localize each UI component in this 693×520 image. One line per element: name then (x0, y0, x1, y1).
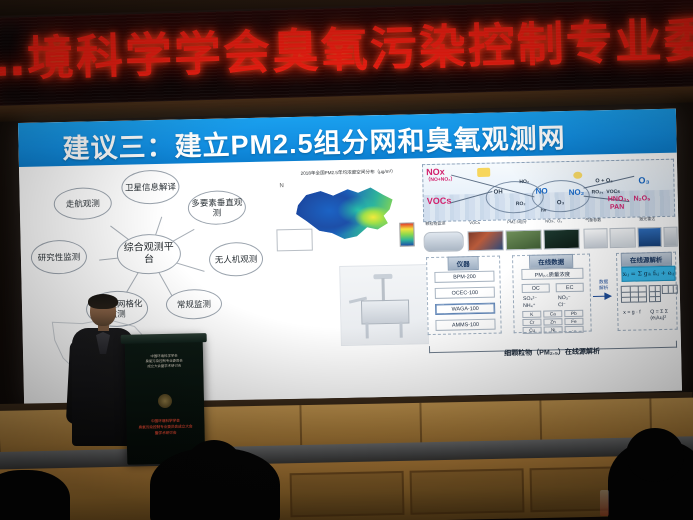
label-vocs: VOCs (427, 196, 452, 207)
metal-cell: Zn (543, 318, 562, 325)
ion-label-cl: Cl⁻ (558, 302, 566, 308)
thumbnail-caption: VOCs (469, 220, 480, 225)
label-ho2: HO₂ (519, 179, 529, 185)
map-color-scale (399, 222, 415, 246)
instrument-item: WAGA-100 (435, 303, 495, 315)
label-no2: NO₂ (569, 188, 585, 197)
source-apportionment-flow: 仪器 BPM-200 OCEC-100 WAGA-100 AMMS-100 在线… (424, 252, 678, 345)
thumbnail-image (505, 230, 541, 251)
sub-formula-2: Q = Σ Σ (eᵢⱼ/uᵢⱼ)² (650, 309, 676, 322)
mindmap-node-label: 多要素垂直观测 (191, 197, 243, 218)
thumbnail-caption: 气象参数 (585, 217, 601, 223)
mindmap-node-mobile: 走航观测 (53, 187, 112, 220)
speaker-hair (88, 294, 118, 309)
label-nox-sub: （NO+NO₂） (425, 175, 455, 183)
mindmap-node-vertical: 多要素垂直观测 (188, 190, 247, 225)
matrix-x (621, 285, 647, 303)
label-ro2-vocs: RO₂、VOCs (592, 188, 620, 196)
flow-column-header: 仪器 (448, 256, 479, 271)
label-no: NO (536, 186, 548, 195)
photo-scene: …境科学学会臭氧污染控制专业委员会成… 建议三：建立PM2.5组分网和臭氧观测网… (0, 0, 693, 520)
sun-icon (477, 168, 490, 177)
thumbnail-image (583, 228, 607, 249)
instrument-item: BPM-200 (434, 271, 494, 283)
inlet-stem (381, 278, 385, 302)
instrument-item: AMMS-100 (435, 319, 495, 331)
mindmap-node-routine: 常规监测 (166, 289, 223, 320)
mindmap-node-research: 研究性监测 (31, 240, 88, 275)
mindmap-node-label: 走航观测 (66, 198, 100, 209)
mindmap-diagram: 综合观测平台 卫星信息解译 多要素垂直观测 无人机观测 常规监测 高密度网格化监… (23, 165, 275, 340)
instrument-photo (339, 264, 429, 346)
mindmap-node-satellite: 卫星信息解译 (121, 169, 180, 204)
metal-cell: … (565, 326, 584, 333)
ion-label-so4: SO₄²⁻ (523, 296, 537, 302)
thumbnail-image (637, 227, 661, 248)
label-o3-center: O₃ (557, 200, 565, 206)
mindmap-node-uav: 无人机观测 (209, 242, 264, 277)
matrix-f (662, 285, 678, 294)
mindmap-node-label: 无人机观测 (215, 254, 258, 265)
sub-formula-1: x = g · f (623, 309, 641, 315)
audience-head (186, 440, 242, 490)
carbon-box-ec: EC (556, 283, 584, 293)
label-oh: OH (494, 189, 503, 195)
mindmap-node-label: 常规监测 (177, 299, 211, 310)
thumbnail-caption: 颗粒物监测 (425, 221, 445, 227)
mindmap-node-label: 卫星信息解译 (125, 182, 176, 193)
metal-cell: Ni (544, 326, 563, 333)
podium-text-bottom: 中国环境科学学会 臭氧污染控制专业委员会成立大会 暨学术研讨会 (131, 417, 199, 436)
wood-panel (290, 471, 405, 517)
wood-panel (410, 468, 525, 514)
metal-cell: K (522, 311, 541, 318)
flow-column-header: 在线数据 (529, 254, 573, 269)
flow-column-header: 在线源解析 (621, 252, 672, 267)
pm-mass-box: PM₂.₅质量浓度 (521, 268, 583, 280)
thumbnail-caption: NOx、O₃ (545, 218, 562, 224)
flow-column-source-apportionment: 在线源解析 xᵢⱼ = Σ gᵢₖ fₖⱼ + eᵢⱼ x = g · f Q (616, 252, 678, 331)
mindmap-node-label: 研究性监测 (38, 252, 81, 263)
thumbnail-caption: 激光雷达 (639, 216, 655, 222)
podium-emblem (158, 394, 172, 408)
metal-cell: Cu (523, 327, 542, 334)
map-legend (276, 229, 312, 252)
data-analysis-arrow-label: 数据 解析 (593, 279, 615, 291)
ion-label-nh4: NH₄⁺ (523, 303, 535, 309)
metal-cell: Ca (543, 310, 562, 317)
flow-column-instruments: 仪器 BPM-200 OCEC-100 WAGA-100 AMMS-100 (426, 256, 502, 336)
thumbnail-image (609, 228, 635, 249)
instrument-leg (399, 322, 402, 338)
ion-label-no3: NO₃⁻ (558, 295, 571, 301)
label-hv: hν (541, 207, 546, 212)
carbon-box-oc: OC (522, 283, 550, 293)
metal-cell: Pb (564, 310, 583, 317)
mindmap-center-label: 综合观测平台 (120, 242, 179, 267)
thumbnail-image (423, 231, 463, 252)
slide-title: 建议三：建立PM2.5组分网和臭氧观测网 (62, 116, 566, 166)
mindmap-center-node: 综合观测平台 (116, 233, 181, 274)
matrix-g (649, 285, 661, 302)
thumbnail-image (543, 229, 579, 250)
pmf-formula-box: xᵢⱼ = Σ gᵢₖ fₖⱼ + eᵢⱼ (621, 266, 675, 282)
metal-cell: Cr (522, 319, 541, 326)
thumbnail-caption: PM2.5组分 (507, 219, 527, 225)
metal-cell: Fe (564, 318, 583, 325)
photochemistry-diagram: NOx （NO+NO₂） VOCs OH HO₂ RO₂ NO NO₂ O₃ h… (422, 159, 675, 222)
label-o3-product: O₃ (638, 175, 649, 185)
podium-text-top: 中国环境科学学会 臭氧污染控制专业委员会 成立大会暨学术研讨会 (133, 353, 195, 369)
podium: 中国环境科学学会 臭氧污染控制专业委员会 成立大会暨学术研讨会 中国环境科学学会… (125, 337, 206, 465)
flow-column-online-data: 在线数据 PM₂.₅质量浓度 OC EC SO₄²⁻ NO₃⁻ NH₄⁺ Cl⁻… (512, 254, 592, 334)
label-pan: PAN (610, 204, 624, 211)
thumbnail-image (467, 230, 503, 251)
map-caption: 2018年全国PM2.5年均浓度空间分布（µg/m³） (285, 168, 411, 177)
compass-icon: N (279, 183, 283, 189)
china-map-card: 2018年全国PM2.5年均浓度空间分布（µg/m³） N (271, 166, 421, 257)
label-ro2: RO₂ (516, 201, 526, 207)
label-o-plus-o2: O + O₂ (595, 178, 612, 184)
podium-top (121, 333, 207, 344)
thumbnail-image (663, 227, 677, 247)
water-bottle (600, 490, 609, 516)
data-analysis-arrow-icon (593, 291, 617, 302)
audience-head (626, 428, 684, 482)
instrument-body (361, 300, 410, 325)
instrument-item: OCEC-100 (435, 287, 495, 299)
instrument-leg (365, 322, 368, 338)
instrument-thumbnail-row: 颗粒物监测 VOCs PM2.5组分 NOx、O₃ 气象参数 激光雷达 (423, 221, 676, 252)
